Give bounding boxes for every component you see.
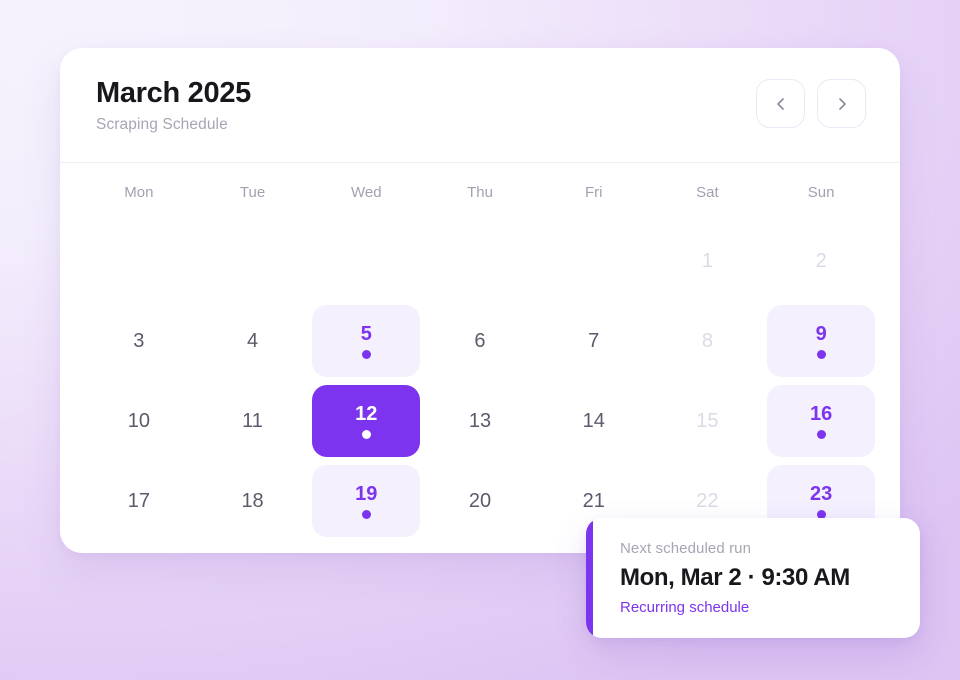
day-inner: 4 xyxy=(199,305,307,377)
day-number: 20 xyxy=(469,491,491,511)
day-cell[interactable]: 8 xyxy=(651,301,765,381)
tooltip-value: Mon, Mar 2 · 9:30 AM xyxy=(620,564,894,592)
weekday-label-tue: Tue xyxy=(196,184,310,201)
scheduled-run-dot xyxy=(362,430,371,439)
calendar-card: March 2025 Scraping Schedule MonTueWedTh… xyxy=(60,48,900,553)
day-cell[interactable]: 12 xyxy=(309,381,423,461)
day-cell[interactable]: 9 xyxy=(764,301,878,381)
day-inner: 12 xyxy=(312,385,420,457)
day-inner xyxy=(426,225,534,297)
day-inner xyxy=(312,225,420,297)
day-cell[interactable]: 20 xyxy=(423,461,537,541)
day-cell[interactable]: 3 xyxy=(82,301,196,381)
day-inner: 9 xyxy=(767,305,875,377)
day-number: 3 xyxy=(133,331,144,351)
day-number: 7 xyxy=(588,331,599,351)
day-inner: 10 xyxy=(85,385,193,457)
day-number: 12 xyxy=(355,404,377,424)
prev-month-button[interactable] xyxy=(756,79,805,128)
tooltip-note[interactable]: Recurring schedule xyxy=(620,599,894,616)
day-number: 22 xyxy=(696,491,718,511)
page-title: March 2025 xyxy=(96,78,864,109)
day-cell[interactable]: 16 xyxy=(764,381,878,461)
day-grid: 1234567891011121314151617181920212223 xyxy=(60,221,900,541)
day-cell[interactable]: 11 xyxy=(196,381,310,461)
day-inner: 19 xyxy=(312,465,420,537)
day-number: 21 xyxy=(583,491,605,511)
day-cell-empty xyxy=(309,221,423,301)
day-cell[interactable]: 14 xyxy=(537,381,651,461)
day-cell[interactable]: 2 xyxy=(764,221,878,301)
day-cell[interactable]: 1 xyxy=(651,221,765,301)
scheduled-run-dot xyxy=(362,350,371,359)
day-cell-empty xyxy=(537,221,651,301)
day-number: 5 xyxy=(361,324,372,344)
day-inner: 16 xyxy=(767,385,875,457)
day-number: 19 xyxy=(355,484,377,504)
day-inner: 20 xyxy=(426,465,534,537)
tooltip-accent-bar xyxy=(586,518,593,638)
day-number: 16 xyxy=(810,404,832,424)
day-inner: 14 xyxy=(540,385,648,457)
day-cell[interactable]: 19 xyxy=(309,461,423,541)
scheduled-run-dot xyxy=(362,510,371,519)
day-number: 15 xyxy=(696,411,718,431)
day-cell[interactable]: 18 xyxy=(196,461,310,541)
day-inner: 1 xyxy=(653,225,761,297)
day-number: 9 xyxy=(816,324,827,344)
day-inner: 13 xyxy=(426,385,534,457)
day-inner: 11 xyxy=(199,385,307,457)
day-cell[interactable]: 17 xyxy=(82,461,196,541)
day-cell[interactable]: 10 xyxy=(82,381,196,461)
page-subtitle: Scraping Schedule xyxy=(96,116,864,134)
next-month-button[interactable] xyxy=(817,79,866,128)
day-number: 4 xyxy=(247,331,258,351)
day-cell[interactable]: 5 xyxy=(309,301,423,381)
weekday-label-sun: Sun xyxy=(764,184,878,201)
day-cell[interactable]: 15 xyxy=(651,381,765,461)
day-number: 18 xyxy=(241,491,263,511)
day-inner xyxy=(540,225,648,297)
day-inner xyxy=(199,225,307,297)
weekday-label-sat: Sat xyxy=(651,184,765,201)
day-cell[interactable]: 6 xyxy=(423,301,537,381)
day-inner: 17 xyxy=(85,465,193,537)
weekday-label-fri: Fri xyxy=(537,184,651,201)
day-cell[interactable]: 13 xyxy=(423,381,537,461)
day-inner: 18 xyxy=(199,465,307,537)
day-inner: 3 xyxy=(85,305,193,377)
chevron-left-icon xyxy=(772,95,790,113)
chevron-right-icon xyxy=(833,95,851,113)
weekday-label-wed: Wed xyxy=(309,184,423,201)
day-number: 13 xyxy=(469,411,491,431)
day-inner: 2 xyxy=(767,225,875,297)
day-number: 14 xyxy=(583,411,605,431)
day-number: 10 xyxy=(128,411,150,431)
day-number: 6 xyxy=(474,331,485,351)
month-navigation xyxy=(756,79,866,128)
weekday-header-row: MonTueWedThuFriSatSun xyxy=(60,163,900,221)
day-inner: 6 xyxy=(426,305,534,377)
next-run-tooltip: Next scheduled run Mon, Mar 2 · 9:30 AM … xyxy=(586,518,920,638)
day-number: 17 xyxy=(128,491,150,511)
day-inner: 5 xyxy=(312,305,420,377)
weekday-label-thu: Thu xyxy=(423,184,537,201)
tooltip-label: Next scheduled run xyxy=(620,540,894,557)
day-inner: 15 xyxy=(653,385,761,457)
day-number: 1 xyxy=(702,251,713,271)
day-cell-empty xyxy=(196,221,310,301)
calendar-header: March 2025 Scraping Schedule xyxy=(60,48,900,163)
scheduled-run-dot xyxy=(817,350,826,359)
day-number: 2 xyxy=(816,251,827,271)
day-number: 23 xyxy=(810,484,832,504)
day-inner: 7 xyxy=(540,305,648,377)
weekday-label-mon: Mon xyxy=(82,184,196,201)
day-cell-empty xyxy=(82,221,196,301)
day-number: 8 xyxy=(702,331,713,351)
day-inner: 8 xyxy=(653,305,761,377)
day-cell[interactable]: 4 xyxy=(196,301,310,381)
day-number: 11 xyxy=(242,411,263,431)
day-cell-empty xyxy=(423,221,537,301)
day-inner xyxy=(85,225,193,297)
scheduled-run-dot xyxy=(817,430,826,439)
day-cell[interactable]: 7 xyxy=(537,301,651,381)
